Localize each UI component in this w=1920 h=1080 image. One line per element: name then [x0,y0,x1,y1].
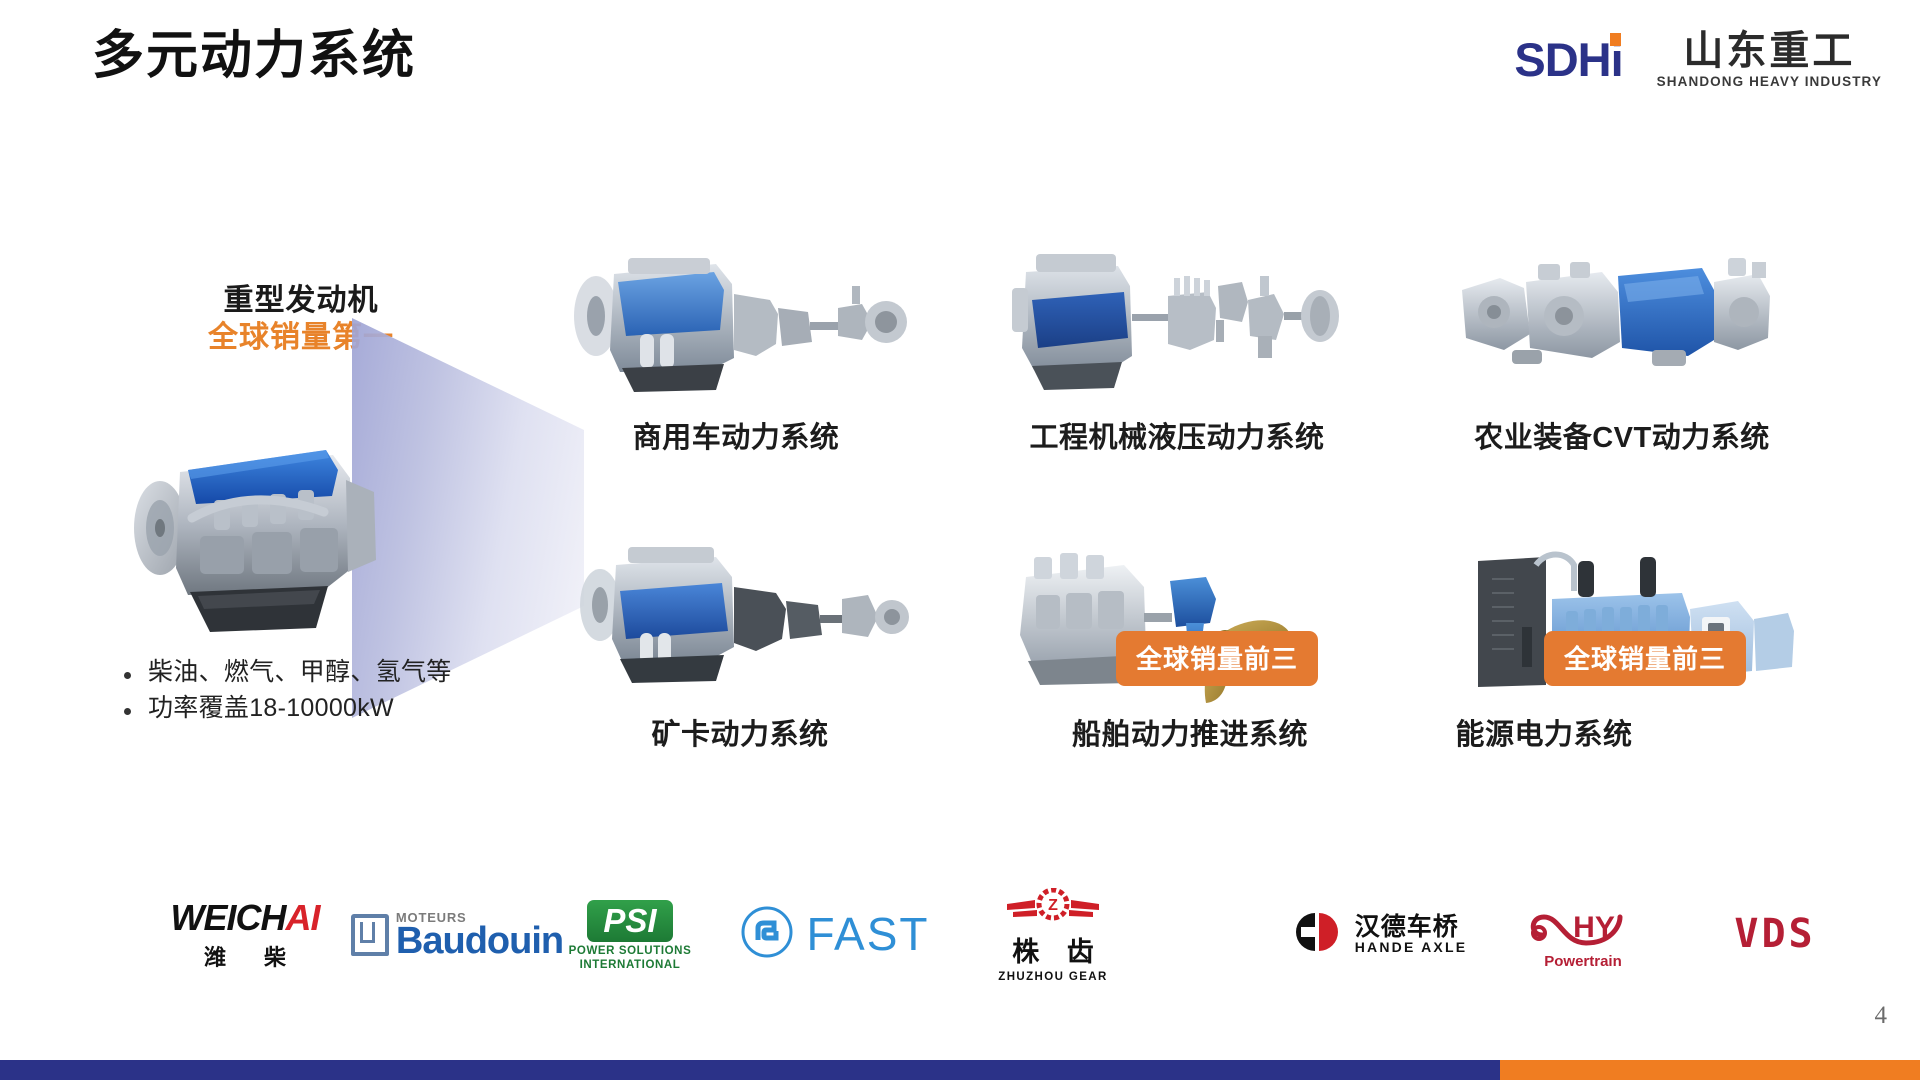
brand-logo-hande-axle[interactable]: 汉德车桥 HANDE AXLE [1248,902,1508,966]
logo-sdhi-mark: SDHi [1514,36,1622,83]
weichai-wordmark-dark: WEICH [171,897,286,939]
hero-heading-line1: 重型发动机 [186,283,416,320]
psi-mark: PSI [587,900,672,942]
hande-mark-icon [1289,909,1345,960]
fast-swirl-icon [740,905,794,964]
hande-lockup: 汉德车桥 HANDE AXLE [1289,909,1468,960]
hande-english: HANDE AXLE [1355,940,1468,955]
weichai-wordmark-red: AI [286,897,320,939]
logo-chinese-block: 山东重工 SHANDONG HEAVY INDUSTRY [1657,30,1882,89]
hande-wordmark: 汉德车桥 HANDE AXLE [1355,914,1468,955]
product-caption-mining-truck: 矿卡动力系统 [570,711,910,753]
lhy-subtitle: Powertrain [1544,953,1622,970]
product-image-construction-hydraulic [1002,238,1352,403]
badge-energy-top3: 全球销量前三 [1544,631,1746,686]
product-card-construction-hydraulic[interactable]: 工程机械液压动力系统 [1002,238,1352,438]
zhuzhou-wings-icon: Z [1005,888,1101,927]
footer-bar [0,1060,1920,1080]
svg-text:HY: HY [1573,911,1615,944]
fast-lockup: FAST [740,905,929,964]
lhy-mark-icon: HY [1524,903,1642,951]
psi-subtitle: POWER SOLUTIONS INTERNATIONAL [569,945,692,972]
company-logo: SDHi 山东重工 SHANDONG HEAVY INDUSTRY [1514,30,1882,89]
hero-bullet-list: 柴油、燃气、甲醇、氢气等 功率覆盖18-10000kW [118,655,548,726]
brand-logo-lhy-powertrain[interactable]: HY Powertrain [1508,896,1658,976]
baudouin-main-text: Baudouin [396,922,563,960]
product-image-agricultural-cvt [1452,238,1792,403]
logo-sdhi-text: SDHi [1514,36,1622,83]
product-caption-energy-power: 能源电力系统 [1374,711,1714,753]
svg-text:Z: Z [1048,897,1058,914]
brand-logo-weichai[interactable]: WEICH AI 潍 柴 [150,894,340,974]
page-number: 4 [1875,1002,1888,1030]
weichai-chinese: 潍 柴 [188,940,302,972]
hero-bullet-item: 功率覆盖18-10000kW [118,691,548,727]
product-card-commercial-vehicle[interactable]: 商用车动力系统 [556,238,916,438]
logo-chinese-name: 山东重工 [1683,30,1855,72]
product-card-agricultural-cvt[interactable]: 农业装备CVT动力系统 [1452,238,1792,438]
product-card-marine-propulsion[interactable]: 全球销量前三 船舶动力推进系统 [1020,535,1360,735]
logo-english-name: SHANDONG HEAVY INDUSTRY [1657,74,1882,89]
product-image-mining-truck [570,535,910,700]
footer-bar-navy [0,1060,1500,1080]
baudouin-lockup: MOTEURS Baudouin [351,911,563,960]
baudouin-wordmark: MOTEURS Baudouin [396,911,563,960]
product-image-commercial-vehicle [556,238,916,403]
badge-marine-top3: 全球销量前三 [1116,631,1318,686]
hande-chinese: 汉德车桥 [1355,914,1468,940]
footer-bar-orange [1500,1060,1920,1080]
psi-wordmark: PSI [603,902,656,939]
brand-logo-baudouin[interactable]: MOTEURS Baudouin [352,900,562,970]
product-card-mining-truck[interactable]: 矿卡动力系统 [570,535,910,735]
logo-divider [1639,37,1641,83]
zhuzhou-english: ZHUZHOU GEAR [998,971,1107,983]
product-caption-commercial-vehicle: 商用车动力系统 [556,414,916,456]
product-caption-marine-propulsion: 船舶动力推进系统 [1020,711,1360,753]
product-caption-agricultural-cvt: 农业装备CVT动力系统 [1452,414,1792,456]
slide-root: 多元动力系统 SDHi 山东重工 SHANDONG HEAVY INDUSTRY… [0,0,1920,1080]
weichai-wordmark: WEICH AI [171,897,320,939]
brand-logo-fast[interactable]: FAST [720,902,950,966]
psi-subtitle-line2: INTERNATIONAL [569,959,692,973]
product-caption-construction-hydraulic: 工程机械液压动力系统 [1002,414,1352,456]
hero-engine-image [118,400,418,650]
psi-subtitle-line1: POWER SOLUTIONS [569,945,692,959]
brand-logo-vds[interactable]: VDS [1700,902,1850,966]
brand-logo-psi[interactable]: PSI POWER SOLUTIONS INTERNATIONAL [560,894,700,978]
page-title: 多元动力系统 [92,28,416,85]
zhuzhou-chinese: 株 齿 [1002,930,1104,969]
product-card-energy-power[interactable]: 全球销量前三 能源电力系统 [1470,535,1810,735]
hero-bullet-item: 柴油、燃气、甲醇、氢气等 [118,655,548,691]
vds-wordmark: VDS [1734,911,1815,957]
fast-wordmark: FAST [806,911,929,957]
logo-accent-dot-icon [1610,33,1621,46]
baudouin-mark-icon [351,914,389,956]
brand-logo-zhuzhou-gear[interactable]: Z 株 齿 ZHUZHOU GEAR [978,888,1128,982]
partner-logo-strip: WEICH AI 潍 柴 MOTEURS Baudouin PSI POWER … [0,880,1920,990]
